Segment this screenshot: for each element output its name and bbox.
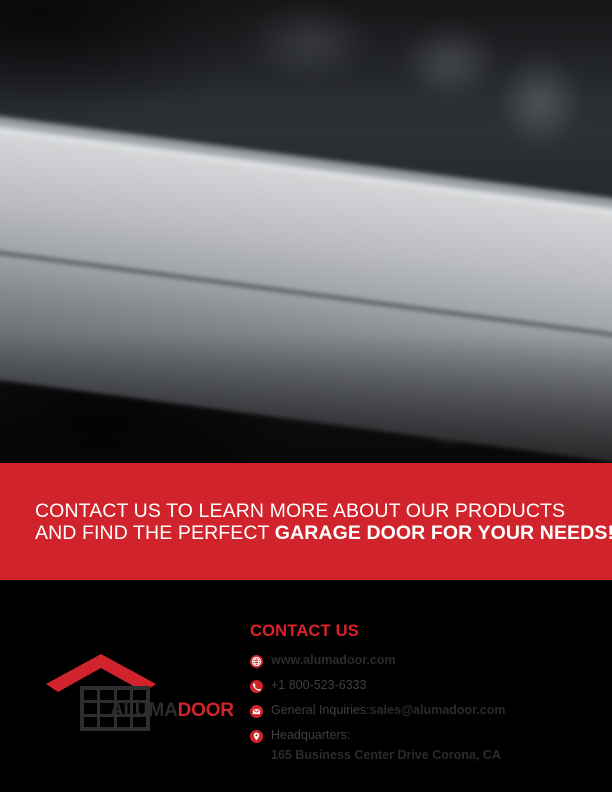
contact-value-website: www.alumadoor.com <box>271 652 396 668</box>
location-pin-icon <box>250 730 263 743</box>
footer: ALUMADOOR CONTACT US www.alumado <box>0 580 612 792</box>
logo[interactable]: ALUMADOOR <box>34 652 230 730</box>
cta-banner: CONTACT US TO LEARN MORE ABOUT OUR PRODU… <box>0 463 612 580</box>
contact-address-line: 165 Business Center Drive Corona, CA <box>271 747 501 763</box>
logo-word-aluma: ALUMA <box>110 700 178 721</box>
contact-row-address[interactable]: Headquarters: 165 Business Center Drive … <box>250 727 595 763</box>
logo-word-door: DOOR <box>178 700 234 721</box>
cta-line-2-bold: GARAGE DOOR FOR YOUR NEEDS! <box>275 522 612 544</box>
phone-icon <box>250 680 263 693</box>
contact-row-phone[interactable]: +1 800-523-6333 <box>250 677 595 693</box>
cta-text: CONTACT US TO LEARN MORE ABOUT OUR PRODU… <box>0 500 612 544</box>
flyer-page: CONTACT US TO LEARN MORE ABOUT OUR PRODU… <box>0 0 612 792</box>
cta-line-1: CONTACT US TO LEARN MORE ABOUT OUR PRODU… <box>35 500 565 522</box>
contact-value-email: General Inquiries:sales@alumadoor.com <box>271 702 506 718</box>
globe-icon <box>250 655 263 668</box>
cta-line-2-regular: AND FIND THE PERFECT <box>35 522 275 544</box>
hero-image <box>0 0 612 463</box>
contact-heading: CONTACT US <box>250 622 595 641</box>
contact-value-address: Headquarters: 165 Business Center Drive … <box>271 727 501 763</box>
contact-row-email[interactable]: General Inquiries:sales@alumadoor.com <box>250 702 595 718</box>
contact-label-address: Headquarters: <box>271 728 350 742</box>
contact-section: CONTACT US www.alumadoor.com <box>250 622 595 772</box>
envelope-icon <box>250 705 263 718</box>
contact-value-phone: +1 800-523-6333 <box>271 677 367 693</box>
contact-label-email: General Inquiries: <box>271 703 370 717</box>
contact-row-website[interactable]: www.alumadoor.com <box>250 652 595 668</box>
logo-wordmark: ALUMADOOR <box>110 700 234 722</box>
